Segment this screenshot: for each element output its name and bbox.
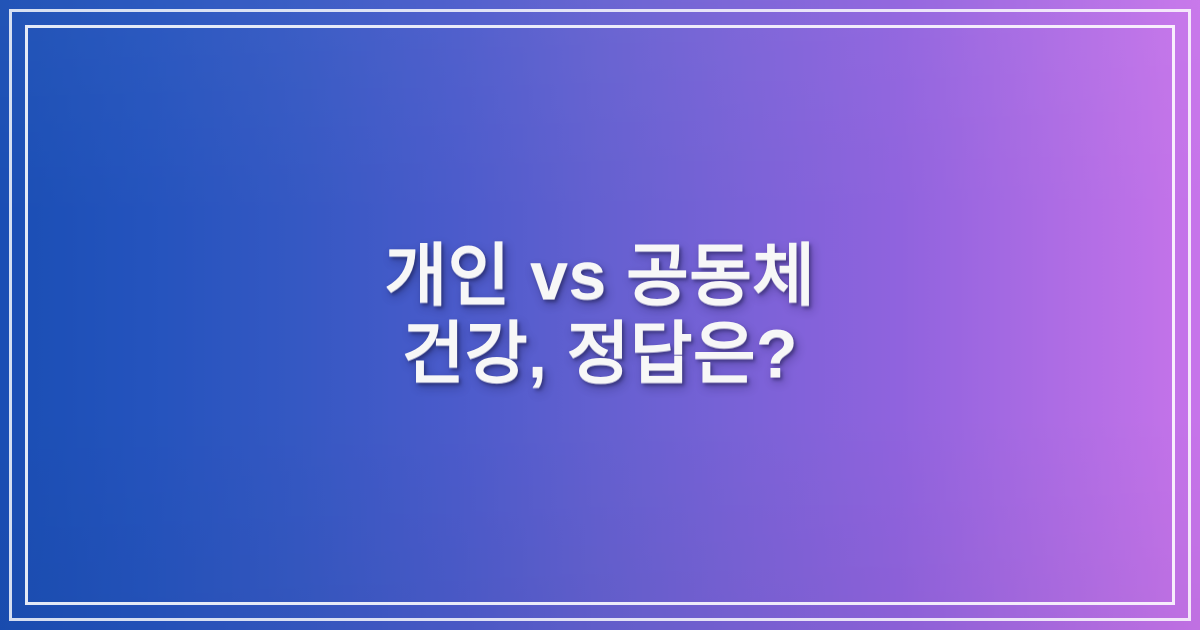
title-line-1: 개인 vs 공동체 (385, 238, 816, 314)
title-block: 개인 vs 공동체 건강, 정답은? (0, 0, 1200, 630)
title-line-2: 건강, 정답은? (402, 316, 798, 392)
thumbnail-card: 개인 vs 공동체 건강, 정답은? (0, 0, 1200, 630)
